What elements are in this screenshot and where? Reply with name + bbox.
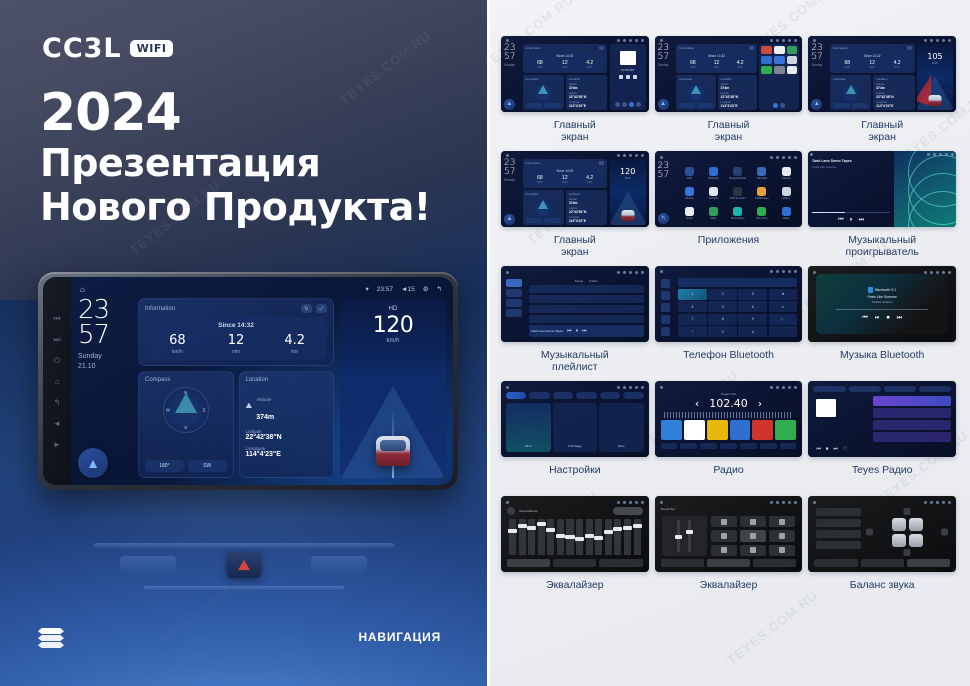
app-label: Camera <box>782 177 791 180</box>
seat[interactable] <box>892 518 906 531</box>
mini-location-card[interactable]: LocationAltitude374mLatitude22°42'38"NLo… <box>873 75 914 110</box>
dialpad-key[interactable]: 3 <box>738 289 767 300</box>
trip-stats: 68 km/h 12 min 4.2 <box>148 333 324 355</box>
eq-band[interactable] <box>557 519 564 555</box>
mini-screen[interactable]: SongsFolderDark Lane Demo Tapes⏮⏸⏭ <box>501 266 649 342</box>
back-icon[interactable]: ↰ <box>437 285 442 293</box>
dialpad-key[interactable]: 0 <box>708 326 737 337</box>
band-icon <box>661 443 678 449</box>
mini-trip: Since 14:3268km/h12km/h4.2km/h <box>679 52 754 71</box>
settings-panel-label: Tuff Usage <box>553 444 598 448</box>
dialpad-key[interactable]: 8 <box>708 314 737 325</box>
app-icon[interactable] <box>787 66 798 74</box>
mini-screen[interactable]: 2357Sunday▲InformationSince 14:3268km/h1… <box>501 36 649 112</box>
gear-icon[interactable]: ⚙ <box>423 285 429 293</box>
media-controls[interactable] <box>619 75 637 79</box>
teyes-tab[interactable] <box>849 386 881 392</box>
trip-stat: 68 km/h <box>148 333 207 355</box>
mini-latitude-value: 22°42'38"N <box>721 95 754 99</box>
eq-slider[interactable] <box>688 520 691 552</box>
balance-pad[interactable] <box>866 508 948 556</box>
navigation-icon[interactable]: ▲ <box>504 214 515 225</box>
eq-knob[interactable] <box>546 528 555 532</box>
mini-clock-minutes: 57 <box>658 53 674 62</box>
eq-knob[interactable] <box>537 522 546 526</box>
teyes-list-item[interactable] <box>873 420 951 430</box>
mini-information-card[interactable]: InformationSince 14:3268km/h12km/h4.2km/… <box>523 159 608 188</box>
screen-thumbnail-teyes-radio[interactable]: ⏮⏹⏭♡ <box>808 381 956 457</box>
player-controls[interactable]: ⏮⏹⏭♡ <box>813 446 871 452</box>
mini-location-title: Location <box>569 192 604 196</box>
clock-day: Sunday <box>78 352 132 361</box>
screen-thumbnail-home-screen-drive-120[interactable]: 2357Sunday▲InformationSince 14:3268km/h1… <box>501 151 649 227</box>
mini-trip-unit: km/h <box>528 181 553 184</box>
eq-preset[interactable] <box>740 516 766 527</box>
radio-preset[interactable] <box>752 420 773 440</box>
screen-thumbnail-home-screen-apps[interactable]: 2357Sunday▲InformationSince 14:3268km/h1… <box>655 36 803 112</box>
playlist-row[interactable] <box>529 295 644 303</box>
gallery-cell-music-player: Dark Lane Demo TapesFeels Like Summer⏮⏸⏭… <box>808 151 956 260</box>
eq-preset[interactable] <box>769 530 795 541</box>
balance-right-icon[interactable] <box>941 529 948 536</box>
eq-knob[interactable] <box>633 524 642 528</box>
settings-chip[interactable] <box>553 392 573 399</box>
dialpad-key[interactable]: 7 <box>678 314 707 325</box>
mini-screen[interactable]: ⏮⏹⏭♡ <box>808 381 956 457</box>
eq-knob[interactable] <box>604 530 613 534</box>
progress-bar[interactable] <box>836 309 928 310</box>
eq-preset[interactable] <box>769 545 795 556</box>
app-icon[interactable] <box>774 66 785 74</box>
eq-band[interactable] <box>528 519 535 555</box>
mini-screen[interactable]: Sound Effects <box>501 496 649 572</box>
mini-screen[interactable]: 2357Sunday▲InformationSince 14:3268km/h1… <box>808 36 956 112</box>
mini-apps-card[interactable] <box>759 44 799 110</box>
compass-north: N <box>184 390 187 395</box>
app-icon[interactable] <box>774 46 785 54</box>
mini-information-title: Information <box>833 46 912 50</box>
now-playing-bar[interactable]: Dark Lane Demo Tapes⏮⏸⏭ <box>529 325 644 337</box>
stop-icon: ⏹ <box>826 446 829 452</box>
dialpad-key[interactable] <box>769 326 798 337</box>
volume-icon <box>936 39 939 42</box>
mini-clock-minutes: 57 <box>811 53 827 62</box>
eq-band[interactable] <box>547 519 554 555</box>
mini-screen[interactable] <box>808 496 956 572</box>
gallery-grid: 2357Sunday▲InformationSince 14:3268km/h1… <box>501 36 956 605</box>
radio-preset[interactable] <box>775 420 796 440</box>
mini-trip-stat: 68km/h <box>528 175 553 184</box>
screen-thumbnail-home-screen-drive-105[interactable]: 2357Sunday▲InformationSince 14:3268km/h1… <box>808 36 956 112</box>
radio-preset[interactable] <box>684 420 705 440</box>
eq-tab[interactable] <box>907 559 950 567</box>
mini-widgets-row: CompassLocationAltitude374mLatitude22°42… <box>523 190 608 225</box>
app-tile[interactable]: Bluetooth Music <box>727 164 749 182</box>
radio-preset[interactable] <box>730 420 751 440</box>
dialpad-key[interactable]: 2 <box>708 289 737 300</box>
player-controls[interactable]: ⏮⏸⏭ <box>812 217 890 224</box>
app-icon[interactable] <box>787 46 798 54</box>
power-button[interactable]: ⏻ <box>53 356 62 365</box>
preset-icon <box>721 533 727 539</box>
settings-chip[interactable] <box>576 392 596 399</box>
navigation-icon[interactable]: ▲ <box>504 99 515 110</box>
balance-left-icon[interactable] <box>866 529 873 536</box>
screen-label-applications: Приложения <box>698 234 759 260</box>
eq-preset[interactable] <box>711 516 737 527</box>
wifi-icon <box>924 39 927 42</box>
app-icon[interactable] <box>761 46 772 54</box>
drive-view[interactable]: HD 120 km/h <box>340 298 446 478</box>
app-tile[interactable]: Bluetooth <box>702 164 724 182</box>
eq-tab[interactable] <box>814 559 857 567</box>
mini-drive-view[interactable]: 120km/h <box>610 159 646 225</box>
latitude-row: Latitude 22°42'38"N <box>246 429 328 441</box>
screen-thumbnail-radio[interactable]: Region FM‹102.40› <box>655 381 803 457</box>
mini-altitude-value: 374m <box>721 86 754 90</box>
contacts-icon <box>661 291 670 300</box>
screen-thumbnail-sound-balance[interactable] <box>808 496 956 572</box>
radio-preset[interactable] <box>707 420 728 440</box>
dialpad-key[interactable]: 📞 <box>769 314 798 325</box>
playlist-tab[interactable]: Songs <box>575 279 584 283</box>
stop-icon <box>626 75 630 79</box>
eq-preset[interactable] <box>769 516 795 527</box>
volume-up-button[interactable]: ► <box>53 440 62 449</box>
settings-panel[interactable]: Wi-Fi <box>506 403 551 452</box>
balance-preset[interactable] <box>816 530 861 538</box>
eq-preset-selector[interactable] <box>613 507 643 515</box>
eq-tab[interactable] <box>861 559 904 567</box>
eq-knob[interactable] <box>527 526 536 530</box>
widgets-row: Compass N E S W 180° <box>138 371 334 478</box>
settings-chip[interactable] <box>600 392 620 399</box>
screens-gallery: TEYES.COM.RU TEYES.COM.RU TEYES.COM.RU T… <box>487 0 970 686</box>
screen-thumbnail-music-player[interactable]: Dark Lane Demo TapesFeels Like Summer⏮⏸⏭ <box>808 151 956 227</box>
eq-preset[interactable] <box>740 545 766 556</box>
next-station-icon[interactable]: › <box>758 397 762 410</box>
app-tile[interactable]: Chrome <box>678 184 700 202</box>
mini-widgets-row: CompassLocationAltitude374mLatitude22°42… <box>830 75 915 110</box>
app-icon[interactable] <box>761 66 772 74</box>
settings-panel-label: More <box>599 444 644 448</box>
app-tile[interactable]: Play Store <box>751 204 773 222</box>
teyes-tab[interactable] <box>919 386 951 392</box>
next-track-button[interactable]: ⏭ <box>53 335 62 344</box>
media-station: 07:50 FM <box>621 68 634 72</box>
eq-slider[interactable] <box>677 520 680 552</box>
eq-preset[interactable] <box>740 530 766 541</box>
playlist-tab[interactable]: Folder <box>589 279 598 283</box>
clock-date: 21.10 <box>78 362 132 371</box>
seat[interactable] <box>892 534 906 547</box>
mini-compass-card[interactable]: Compass <box>830 75 871 110</box>
playlist-tabs[interactable]: SongsFolder <box>529 279 644 283</box>
compass-readout: 180° SW <box>145 460 227 472</box>
mini-trip-since: Since 14:32 <box>528 54 603 58</box>
refresh-icon[interactable]: ↻ <box>301 304 312 313</box>
wifi-icon <box>770 270 773 273</box>
screen-thumbnail-settings[interactable]: Wi-FiTuff UsageMore <box>501 381 649 457</box>
mini-trip-since: Since 14:32 <box>835 54 910 58</box>
information-card[interactable]: Information ↻ ⤢ Since 14:32 <box>138 298 334 366</box>
home-button[interactable]: ⌂ <box>53 377 62 386</box>
mini-location-card[interactable]: LocationAltitude374mLatitude22°42'38"NLo… <box>566 75 607 110</box>
mini-screen[interactable]: Region FM‹102.40› <box>655 381 803 457</box>
eq-band[interactable] <box>538 519 545 555</box>
teyes-tab[interactable] <box>884 386 916 392</box>
eq-tab[interactable] <box>753 559 796 567</box>
eq-preset[interactable] <box>711 530 737 541</box>
eq-knob[interactable] <box>575 537 584 541</box>
mini-screen[interactable]: Bluetooth 5.1Feels Like SummerChildish G… <box>808 266 956 342</box>
app-tile[interactable]: Gmail <box>678 204 700 222</box>
teyes-list-item[interactable] <box>873 408 951 418</box>
eq-knob[interactable] <box>613 527 622 531</box>
mini-screen[interactable]: 2357Sunday▲InformationSince 14:3268km/h1… <box>655 36 803 112</box>
eq-knob[interactable] <box>556 534 565 538</box>
balance-preset[interactable] <box>816 541 861 549</box>
mini-information-card[interactable]: InformationSince 14:3268km/h12km/h4.2km/… <box>676 44 757 73</box>
back-button[interactable]: ↰ <box>53 398 62 407</box>
mini-information-card[interactable]: InformationSince 14:3268km/h12km/h4.2km/… <box>523 44 608 73</box>
eq-tab[interactable] <box>599 559 642 567</box>
app-label: DVR Recorder <box>730 197 746 200</box>
app-tile[interactable]: Maps <box>702 204 724 222</box>
volume-indicator[interactable]: ◄15 <box>401 286 415 293</box>
app-tile[interactable]: Calculator <box>751 164 773 182</box>
eq-band[interactable] <box>519 519 526 555</box>
app-icon[interactable] <box>774 56 785 64</box>
dialpad-key[interactable]: ⎌ <box>769 301 798 312</box>
teyes-tab[interactable] <box>813 386 845 392</box>
screen-thumbnail-bluetooth-music[interactable]: Bluetooth 5.1Feels Like SummerChildish G… <box>808 266 956 342</box>
mini-information-card[interactable]: InformationSince 14:3268km/h12km/h4.2km/… <box>830 44 915 73</box>
eq-knob[interactable] <box>508 529 517 533</box>
dialpad-key[interactable]: 9 <box>738 314 767 325</box>
mini-screen[interactable]: Dark Lane Demo TapesFeels Like Summer⏮⏸⏭ <box>808 151 956 227</box>
eq-band[interactable] <box>509 519 516 555</box>
dialpad-key[interactable]: 1 <box>678 289 707 300</box>
app-tile[interactable]: DVR Recorder <box>727 184 749 202</box>
mini-trip-unit: km/h <box>552 181 577 184</box>
location-title: Location <box>246 377 328 383</box>
navigation-icon[interactable]: ▲ <box>658 99 669 110</box>
mini-screen[interactable]: 2357↰ChatBluetoothBluetooth MusicCalcula… <box>655 151 803 227</box>
eq-tabs <box>811 559 953 569</box>
screen-thumbnail-applications[interactable]: 2357↰ChatBluetoothBluetooth MusicCalcula… <box>655 151 803 227</box>
eq-tab[interactable] <box>661 559 704 567</box>
mini-longitude: Longitude114°4'23"E <box>721 101 754 108</box>
eq-tab[interactable] <box>553 559 596 567</box>
eq-band[interactable] <box>614 519 621 555</box>
app-icon <box>685 167 694 176</box>
navigation-icon[interactable]: ▲ <box>811 99 822 110</box>
search-icon <box>661 303 670 312</box>
eq-knob[interactable] <box>518 524 527 528</box>
eq-band[interactable] <box>595 519 602 555</box>
eq-band[interactable] <box>624 519 631 555</box>
back-icon <box>794 270 797 273</box>
app-tile[interactable]: Radio <box>775 204 797 222</box>
mini-longitude: Longitude114°4'23"E <box>569 216 604 223</box>
playlist-row[interactable] <box>529 315 644 323</box>
eq-tab[interactable] <box>507 559 550 567</box>
compass-card[interactable]: Compass N E S W 180° <box>138 371 234 478</box>
source-icon <box>615 102 620 107</box>
eq-band[interactable] <box>605 519 612 555</box>
seat[interactable] <box>909 518 923 531</box>
mini-drive-view[interactable]: 105km/h <box>917 44 953 110</box>
mini-compass-card[interactable]: Compass <box>676 75 715 110</box>
back-icon <box>641 386 644 389</box>
settings-chip[interactable] <box>506 392 526 399</box>
expand-icon[interactable]: ⤢ <box>316 304 327 313</box>
location-card[interactable]: Location ⛰ Altitude 374m <box>239 371 335 478</box>
app-tile[interactable]: Camera <box>775 164 797 182</box>
prev-icon <box>619 75 623 79</box>
screen-thumbnail-home-screen-media[interactable]: 2357Sunday▲InformationSince 14:3268km/h1… <box>501 36 649 112</box>
more-icon <box>780 443 797 449</box>
eq-band[interactable] <box>566 519 573 555</box>
dialpad-key[interactable]: * <box>678 326 707 337</box>
mini-location-card[interactable]: LocationAltitude374mLatitude22°42'38"NLo… <box>566 190 607 225</box>
dialpad-key[interactable]: 4 <box>678 301 707 312</box>
eq-knob[interactable] <box>594 536 603 540</box>
mini-status-bar <box>504 269 646 275</box>
latitude-value: 22°42'38"N <box>246 434 328 441</box>
prev-icon: ⏮ <box>816 446 821 452</box>
app-tile[interactable]: Chat <box>678 164 700 182</box>
console-trim-upper <box>94 543 394 548</box>
eq-tab[interactable] <box>707 559 750 567</box>
screen-thumbnail-equalizer-presets[interactable]: Sound Set <box>655 496 803 572</box>
home-icon[interactable]: ⌂ <box>80 285 85 294</box>
settings-panel[interactable]: Tuff Usage <box>553 403 598 452</box>
app-tile[interactable]: FileManager <box>751 184 773 202</box>
volume-down-button[interactable]: ◄ <box>53 419 62 428</box>
screen-thumbnail-bluetooth-phone[interactable]: 123★456⎌789📞*0# <box>655 266 803 342</box>
balance-preset[interactable] <box>816 508 861 516</box>
hud-icon: HD <box>389 306 398 312</box>
eq-knob[interactable] <box>585 534 594 538</box>
teyes-list-item[interactable] <box>873 396 951 406</box>
dialpad-key[interactable]: 5 <box>708 301 737 312</box>
dialpad-key[interactable]: 6 <box>738 301 767 312</box>
mini-screen[interactable]: Sound Set <box>655 496 803 572</box>
prev-icon: ⏮ <box>838 217 843 224</box>
eq-preset[interactable] <box>711 545 737 556</box>
settings-panel[interactable]: More <box>599 403 644 452</box>
prev-station-icon[interactable]: ‹ <box>695 397 699 410</box>
gallery-cell-home-screen-media: 2357Sunday▲InformationSince 14:3268km/h1… <box>501 36 649 145</box>
back-icon <box>948 39 951 42</box>
balance-preset[interactable] <box>816 519 861 527</box>
eq-knob[interactable] <box>565 535 574 539</box>
playlist-sidebar[interactable] <box>504 277 524 339</box>
mini-screen[interactable]: 2357Sunday▲InformationSince 14:3268km/h1… <box>501 151 649 227</box>
app-tile[interactable]: Gallery <box>775 184 797 202</box>
app-icon <box>782 187 791 196</box>
speed-value: 120 <box>340 313 446 338</box>
dock-icon <box>773 103 778 108</box>
balance-up-icon[interactable] <box>904 508 911 515</box>
eq-band[interactable] <box>576 519 583 555</box>
teyes-now-playing: ⏮⏹⏭♡ <box>813 396 871 452</box>
gallery-cell-teyes-radio: ⏮⏹⏭♡Teyes Радио <box>808 381 956 490</box>
screen-label-bluetooth-phone: Телефон Bluetooth <box>683 349 774 375</box>
eq-icon <box>720 443 737 449</box>
radio-preset[interactable] <box>661 420 682 440</box>
seat[interactable] <box>909 534 923 547</box>
mini-compass-card[interactable]: Compass <box>523 190 564 225</box>
balance-down-icon[interactable] <box>904 549 911 556</box>
progress-bar[interactable] <box>812 212 890 214</box>
mini-status-right <box>617 39 644 42</box>
settings-chip[interactable] <box>529 392 549 399</box>
headline-line-1: Презентация <box>40 141 431 186</box>
number-display[interactable] <box>678 278 797 287</box>
source-dots[interactable] <box>615 102 641 107</box>
mini-trip-stat: 68km/h <box>681 60 705 69</box>
app-label: Contacts <box>709 197 718 200</box>
mini-trip-stat: 4.2km/h <box>885 60 910 69</box>
phone-sidebar[interactable] <box>658 276 674 339</box>
screen-thumbnail-equalizer-bands[interactable]: Sound Effects <box>501 496 649 572</box>
mini-altitude: Altitude374m <box>569 198 604 205</box>
dock-row[interactable] <box>773 103 785 108</box>
player-controls[interactable]: ⏮⏯⏹⏭ <box>862 315 902 322</box>
playlist-row[interactable] <box>529 285 644 293</box>
mini-screen[interactable]: 123★456⎌789📞*0# <box>655 266 803 342</box>
back-icon <box>948 501 951 504</box>
volume-icon <box>629 271 632 274</box>
status-bar-right: ▾ 23:57 ◄15 ⚙ ↰ <box>366 285 443 293</box>
back-icon[interactable]: ↰ <box>658 213 669 224</box>
headline: 2024 Презентация Нового Продукта! <box>40 86 431 230</box>
back-icon <box>641 271 644 274</box>
screen-thumbnail-music-playlist[interactable]: SongsFolderDark Lane Demo Tapes⏮⏸⏭ <box>501 266 649 342</box>
eq-knob[interactable] <box>623 526 632 530</box>
navigation-icon[interactable]: ▲ <box>78 448 108 478</box>
dialpad-key[interactable]: ★ <box>769 289 798 300</box>
mini-media-card[interactable]: 07:50 FM <box>610 44 646 110</box>
settings-chip[interactable] <box>623 392 643 399</box>
hazard-light-button[interactable] <box>227 552 261 578</box>
mini-compass-card[interactable]: Compass <box>523 75 564 110</box>
app-icon <box>709 167 718 176</box>
dialpad-key[interactable]: # <box>738 326 767 337</box>
app-tile[interactable]: Music Player <box>727 204 749 222</box>
app-icon[interactable] <box>761 56 772 64</box>
eq-band[interactable] <box>586 519 593 555</box>
gear-icon <box>635 39 638 42</box>
prev-track-button[interactable]: ⏮ <box>53 314 62 323</box>
clock-icon <box>776 386 779 389</box>
clock-icon <box>623 501 626 504</box>
home-icon <box>660 386 663 389</box>
folders-icon <box>506 309 522 317</box>
playlist-row[interactable] <box>529 305 644 313</box>
mini-screen[interactable]: Wi-FiTuff UsageMore <box>501 381 649 457</box>
app-icon <box>685 187 694 196</box>
mini-location-card[interactable]: LocationAltitude374mLatitude22°42'38"NLo… <box>718 75 757 110</box>
eq-band[interactable] <box>634 519 641 555</box>
clock-icon <box>933 153 936 156</box>
app-icon[interactable] <box>787 56 798 64</box>
teyes-list-item[interactable] <box>873 432 951 442</box>
app-tile[interactable]: Contacts <box>702 184 724 202</box>
